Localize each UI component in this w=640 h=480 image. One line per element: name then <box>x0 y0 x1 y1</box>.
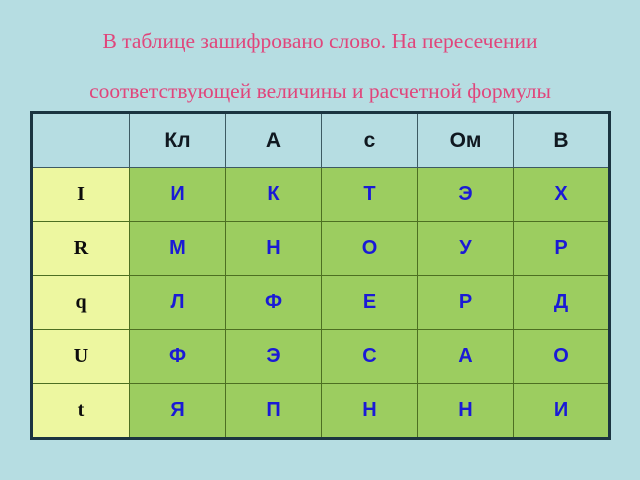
cell-1-1[interactable]: Н <box>226 222 322 276</box>
column-header-1: А <box>226 113 322 168</box>
cell-2-2[interactable]: Е <box>322 276 418 330</box>
cell-0-1[interactable]: К <box>226 168 322 222</box>
row-header-1: R <box>32 222 130 276</box>
cell-4-3[interactable]: Н <box>418 384 514 439</box>
cell-4-2[interactable]: Н <box>322 384 418 439</box>
cell-0-3[interactable]: Э <box>418 168 514 222</box>
column-header-3: Ом <box>418 113 514 168</box>
cell-3-4[interactable]: О <box>514 330 610 384</box>
cell-3-0[interactable]: Ф <box>130 330 226 384</box>
cell-1-0[interactable]: М <box>130 222 226 276</box>
cipher-table: Кл А с Ом В I И К Т Э Х R М Н О У Р <box>30 111 611 440</box>
cell-1-3[interactable]: У <box>418 222 514 276</box>
column-header-2: с <box>322 113 418 168</box>
cell-4-1[interactable]: П <box>226 384 322 439</box>
table-corner-cell <box>32 113 130 168</box>
cell-3-1[interactable]: Э <box>226 330 322 384</box>
cell-3-3[interactable]: А <box>418 330 514 384</box>
table-header-row: Кл А с Ом В <box>32 113 610 168</box>
cell-0-4[interactable]: Х <box>514 168 610 222</box>
cell-0-2[interactable]: Т <box>322 168 418 222</box>
cell-2-3[interactable]: Р <box>418 276 514 330</box>
table-row: I И К Т Э Х <box>32 168 610 222</box>
table-row: t Я П Н Н И <box>32 384 610 439</box>
cell-2-4[interactable]: Д <box>514 276 610 330</box>
column-header-0: Кл <box>130 113 226 168</box>
slide-canvas: В таблице зашифровано слово. На пересече… <box>0 0 640 480</box>
page-title-line-2: соответствующей величины и расчетной фор… <box>18 79 622 104</box>
page-title-line-1: В таблице зашифровано слово. На пересече… <box>18 29 622 54</box>
row-header-2: q <box>32 276 130 330</box>
table-row: q Л Ф Е Р Д <box>32 276 610 330</box>
cell-4-4[interactable]: И <box>514 384 610 439</box>
cell-0-0[interactable]: И <box>130 168 226 222</box>
cell-1-4[interactable]: Р <box>514 222 610 276</box>
cell-1-2[interactable]: О <box>322 222 418 276</box>
row-header-3: U <box>32 330 130 384</box>
cell-2-0[interactable]: Л <box>130 276 226 330</box>
row-header-4: t <box>32 384 130 439</box>
table-row: R М Н О У Р <box>32 222 610 276</box>
column-header-4: В <box>514 113 610 168</box>
cell-4-0[interactable]: Я <box>130 384 226 439</box>
table-row: U Ф Э С А О <box>32 330 610 384</box>
cell-2-1[interactable]: Ф <box>226 276 322 330</box>
row-header-0: I <box>32 168 130 222</box>
cell-3-2[interactable]: С <box>322 330 418 384</box>
